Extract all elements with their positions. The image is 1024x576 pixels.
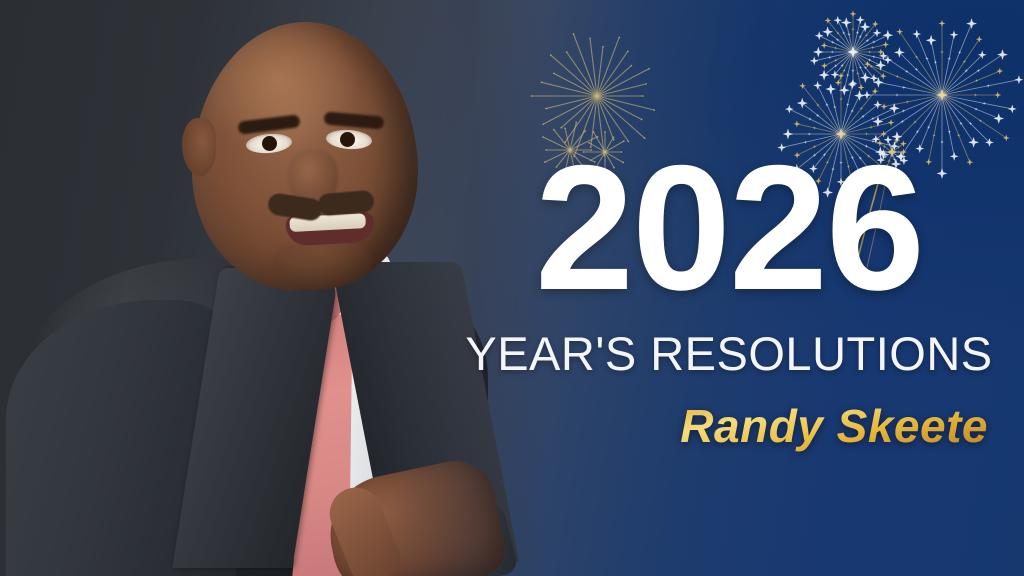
subtitle: YEAR'S RESOLUTIONS bbox=[462, 328, 996, 380]
white-dotted-burst-top bbox=[810, 11, 893, 96]
year-title: 2026 bbox=[462, 138, 996, 318]
pupil-left bbox=[262, 136, 277, 151]
speaker-portrait bbox=[0, 0, 520, 576]
chin bbox=[272, 238, 372, 286]
speaker-name: Randy Skeete bbox=[462, 398, 996, 454]
thumbnail-canvas: 2026 YEAR'S RESOLUTIONS Randy Skeete bbox=[0, 0, 1024, 576]
pupil-right bbox=[340, 132, 355, 147]
ear bbox=[182, 118, 216, 176]
